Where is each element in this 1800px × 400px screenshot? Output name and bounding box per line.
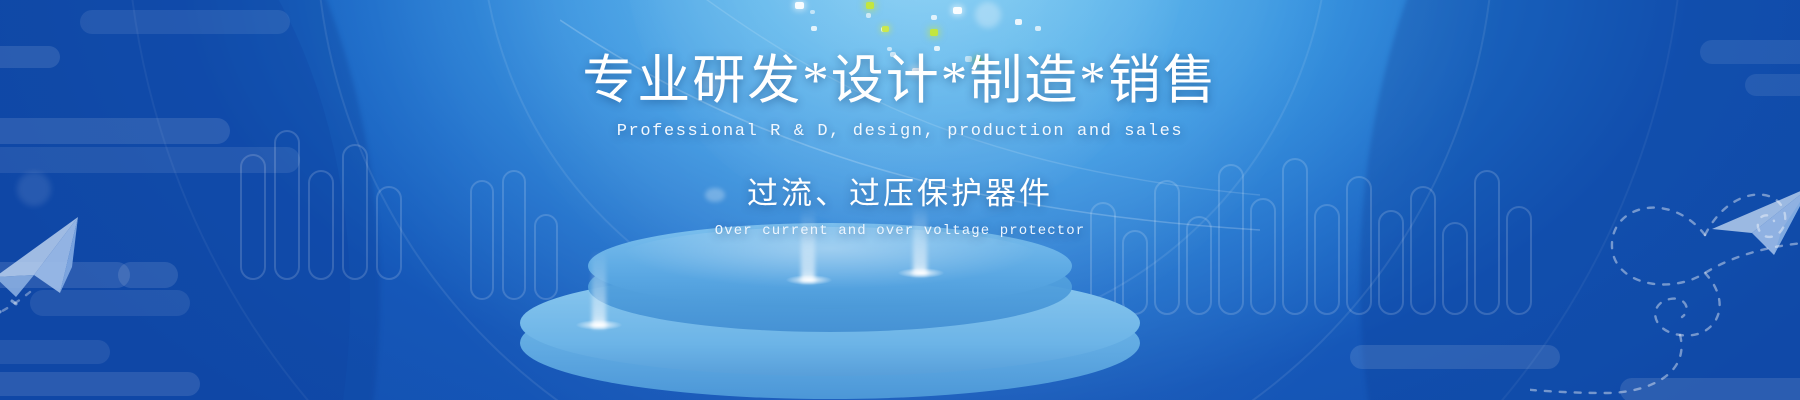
light-particle	[887, 47, 892, 51]
podium-light-beam	[592, 250, 606, 328]
podium-light-glow	[786, 275, 832, 285]
podium-light-glow	[576, 320, 622, 330]
light-particle	[795, 2, 804, 9]
light-particle	[931, 15, 937, 20]
cloud-bar	[80, 10, 290, 34]
light-particle	[934, 46, 940, 51]
cloud-bar	[0, 340, 110, 364]
light-particle	[811, 26, 817, 31]
podium-disc-lower-top	[520, 270, 1140, 376]
wave-bar	[1122, 230, 1148, 315]
subheadline-english: Over current and over voltage protector	[0, 223, 1800, 239]
light-particle-accent	[882, 26, 889, 32]
light-particle-accent	[866, 2, 874, 9]
cloud-bar	[1620, 378, 1800, 400]
light-particle	[1015, 19, 1022, 25]
headline-english: Professional R & D, design, production a…	[0, 122, 1800, 141]
banner-text-block: 专业研发*设计*制造*销售 Professional R & D, design…	[0, 55, 1800, 239]
stage-podium	[520, 215, 1140, 400]
light-particle-soft	[975, 2, 1001, 28]
cloud-bar	[0, 372, 200, 396]
light-particle	[810, 10, 815, 14]
cloud-bar	[1350, 345, 1560, 369]
light-particle-accent	[930, 29, 938, 36]
hero-banner: 专业研发*设计*制造*销售 Professional R & D, design…	[0, 0, 1800, 400]
light-particle	[953, 7, 962, 14]
light-particle	[1035, 26, 1041, 31]
podium-disc-upper	[588, 242, 1072, 332]
light-particle	[866, 13, 871, 18]
podium-light-glow	[898, 268, 944, 278]
podium-disc-lower	[520, 287, 1140, 399]
headline-chinese: 专业研发*设计*制造*销售	[0, 55, 1800, 108]
subheadline-chinese: 过流、过压保护器件	[0, 168, 1800, 213]
